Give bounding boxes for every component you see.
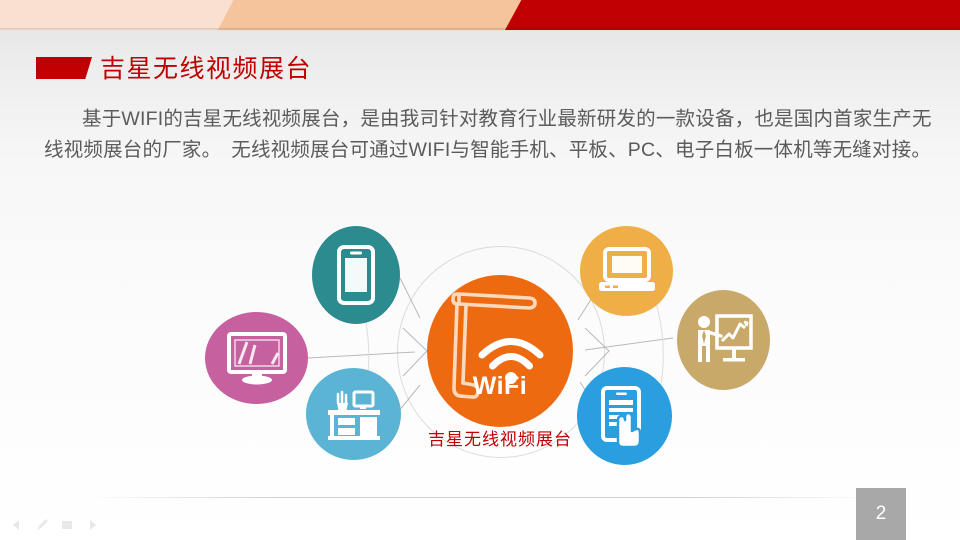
title-row: 吉星无线视频展台 (0, 52, 960, 86)
title-accent-mark (36, 57, 92, 79)
banner-segment-light (0, 0, 236, 30)
page-title: 吉星无线视频展台 (100, 49, 312, 85)
presenter-controls[interactable] (10, 516, 130, 534)
tablet-touch-icon (597, 385, 653, 447)
previous-slide-icon[interactable] (10, 518, 24, 532)
laptop-icon (597, 247, 657, 295)
node-smartphone[interactable] (312, 226, 400, 324)
body-paragraph: 基于WIFI的吉星无线视频展台，是由我司针对教育行业最新研发的一款设备，也是国内… (44, 104, 934, 166)
node-tablet[interactable] (577, 367, 672, 465)
desk-computer-icon (325, 388, 383, 440)
paragraph-text: 基于WIFI的吉星无线视频展台，是由我司针对教育行业最新研发的一款设备，也是国内… (44, 108, 932, 161)
footer-divider (86, 497, 876, 498)
page-number-badge: 2 (856, 488, 906, 540)
node-laptop[interactable] (580, 226, 673, 316)
smartphone-icon (336, 244, 376, 306)
presentation-slide: 吉星无线视频展台 基于WIFI的吉星无线视频展台，是由我司针对教育行业最新研发的… (0, 0, 960, 540)
monitor-icon (226, 331, 288, 385)
slide-view-icon[interactable] (60, 518, 74, 532)
hub-label: WiFi (427, 372, 573, 401)
header-banner (0, 0, 960, 30)
banner-shadow (0, 28, 960, 31)
pen-icon[interactable] (35, 518, 49, 532)
hub-and-spoke-diagram: WiFi 吉星无线视频展台 (0, 200, 960, 490)
hub-caption: 吉星无线视频展台 (390, 425, 610, 450)
banner-segment-red (505, 0, 960, 30)
banner-segment-mid (218, 0, 528, 30)
next-slide-icon[interactable] (85, 518, 99, 532)
node-whiteboard[interactable] (677, 290, 770, 390)
node-monitor[interactable] (205, 312, 308, 404)
node-workstation[interactable] (306, 368, 401, 460)
presenter-board-icon (693, 311, 755, 369)
